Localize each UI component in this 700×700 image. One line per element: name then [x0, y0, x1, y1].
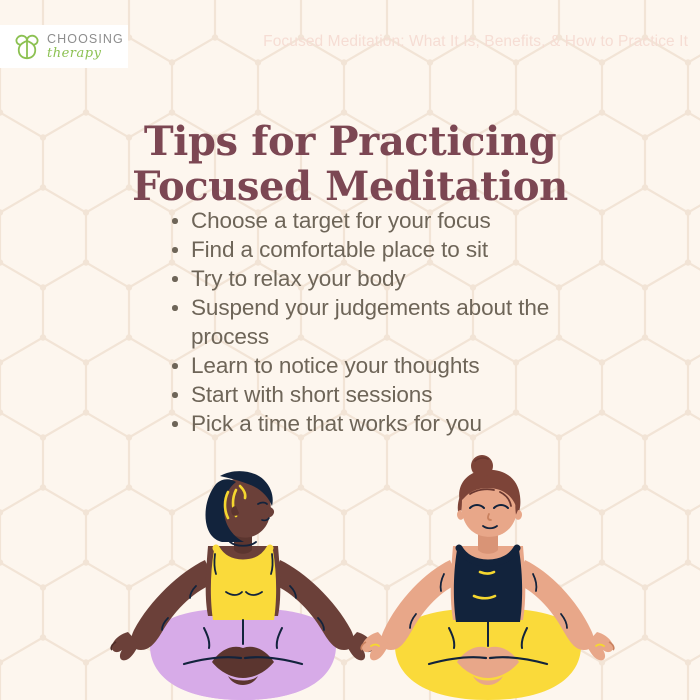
article-title-caption: Focused Meditation: What It Is, Benefits… — [263, 33, 688, 51]
list-item: Learn to notice your thoughts — [170, 351, 590, 380]
list-item: Choose a target for your focus — [170, 206, 590, 235]
brand-name-bottom: therapy — [47, 47, 124, 60]
infographic-canvas: CHOOSING therapy Focused Meditation: Wha… — [0, 0, 700, 700]
list-item: Find a comfortable place to sit — [170, 235, 590, 264]
list-item: Pick a time that works for you — [170, 409, 590, 438]
tips-list: Choose a target for your focus Find a co… — [170, 206, 590, 438]
meditation-illustration — [0, 450, 700, 700]
list-item: Suspend your judgements about the proces… — [170, 293, 590, 351]
brand-logo[interactable]: CHOOSING therapy — [0, 25, 128, 68]
page-title-line-1: Tips for Practicing — [0, 119, 700, 164]
list-item: Try to relax your body — [170, 264, 590, 293]
woman-light-skin-meditating — [361, 455, 614, 700]
brand-wordmark: CHOOSING therapy — [47, 33, 124, 60]
page-title: Tips for Practicing Focused Meditation — [0, 119, 700, 209]
page-title-line-2: Focused Meditation — [0, 164, 700, 209]
leaf-flower-icon — [12, 32, 42, 62]
list-item: Start with short sessions — [170, 380, 590, 409]
woman-dark-skin-meditating — [111, 471, 374, 700]
brand-name-top: CHOOSING — [47, 33, 124, 46]
